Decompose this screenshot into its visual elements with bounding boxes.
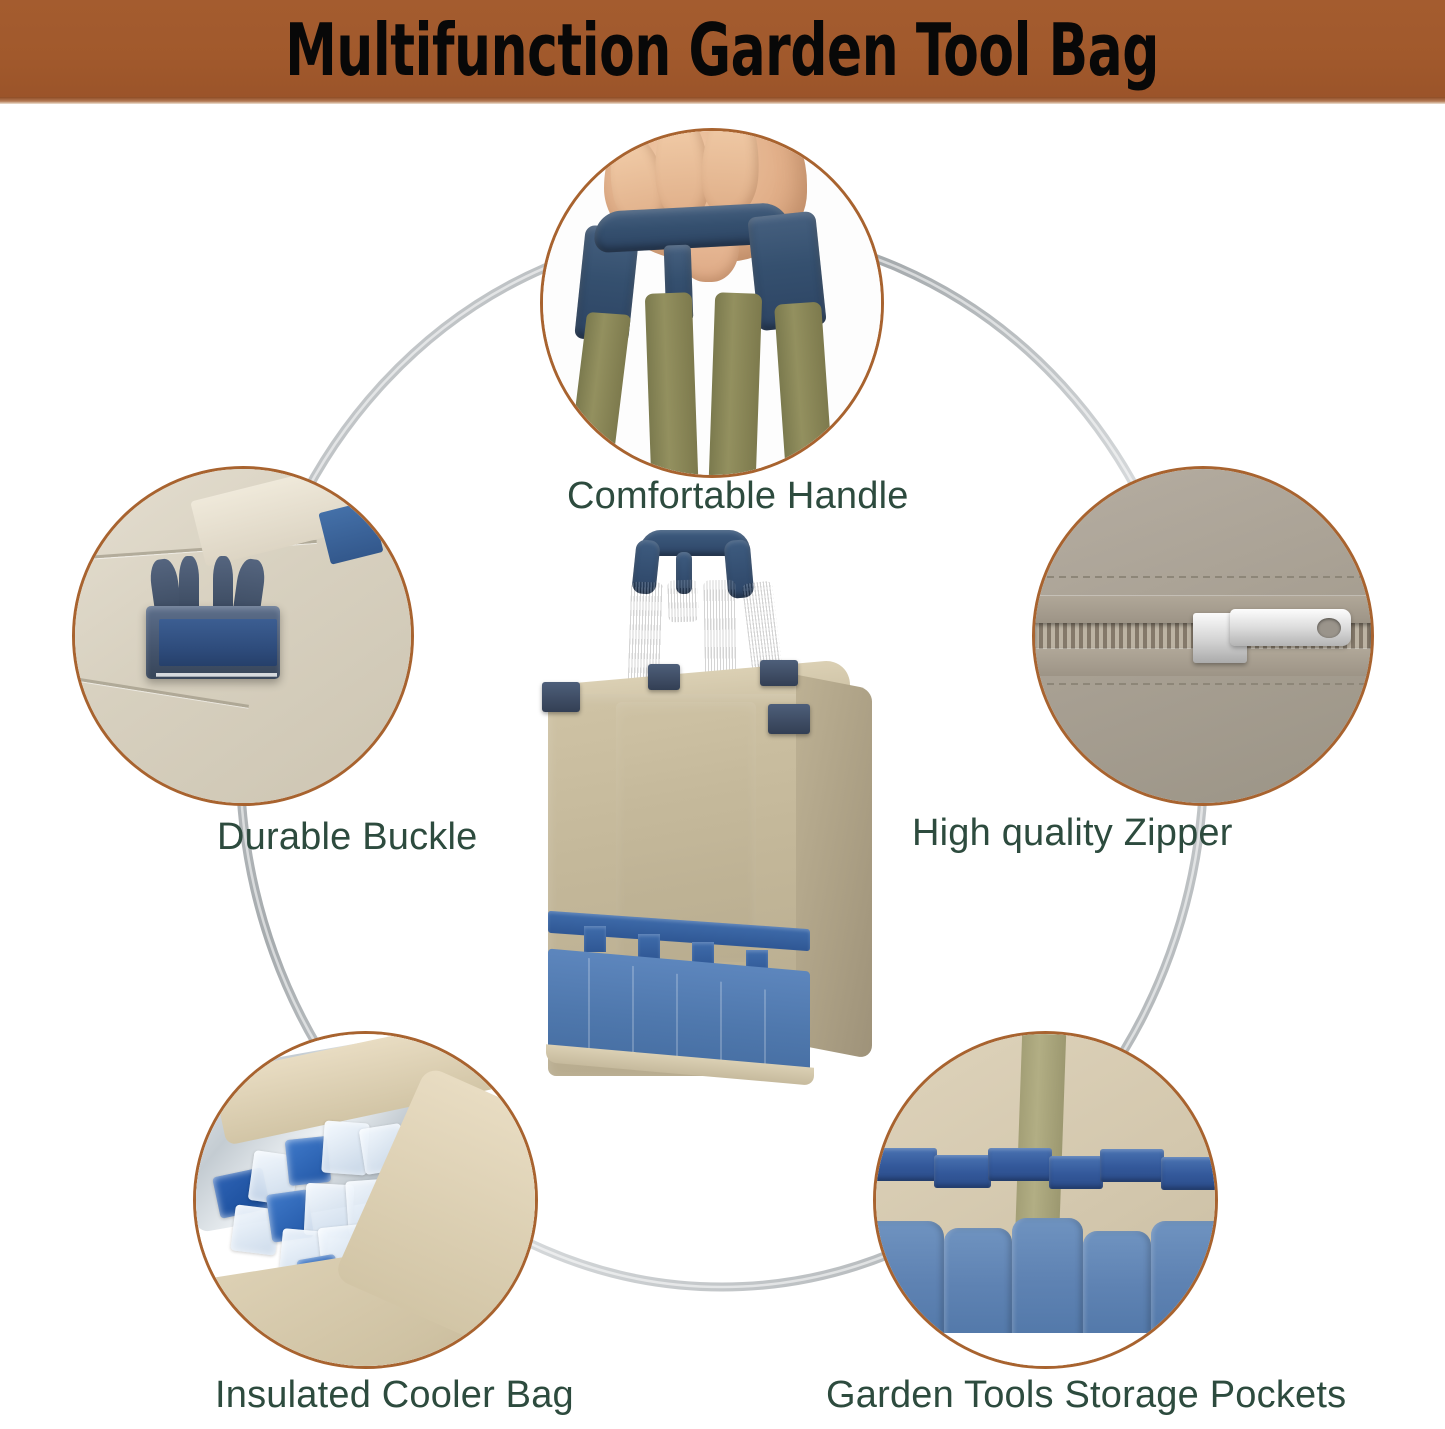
feature-bubble-zipper[interactable] xyxy=(1032,466,1374,806)
buckle-top-right xyxy=(760,660,798,686)
webbing-strap-2 xyxy=(645,292,699,478)
tool-pocket xyxy=(1012,1218,1083,1339)
caption-buckle: Durable Buckle xyxy=(217,816,478,859)
elastic-loop-band xyxy=(876,1144,1215,1197)
tool-pocket xyxy=(1083,1231,1151,1339)
elastic-loop xyxy=(1100,1149,1164,1182)
buckle-blue-webbing xyxy=(159,619,277,666)
tool-pocket xyxy=(873,1221,944,1340)
buckle-prong-inner-left xyxy=(179,556,199,613)
caption-pockets: Garden Tools Storage Pockets xyxy=(826,1374,1346,1417)
elastic-loop xyxy=(934,1155,992,1188)
feature-bubble-pockets[interactable] xyxy=(873,1031,1218,1369)
caption-handle: Comfortable Handle xyxy=(567,475,909,518)
elastic-loop xyxy=(1049,1156,1103,1189)
buckle-webbing-edge xyxy=(156,673,277,676)
caption-zipper: High quality Zipper xyxy=(912,812,1233,855)
buckle-left xyxy=(542,682,580,712)
center-product-image[interactable] xyxy=(520,522,890,1092)
tool-pocket xyxy=(1151,1221,1218,1340)
feature-bubble-buckle[interactable] xyxy=(72,466,414,806)
pocket-divider xyxy=(588,958,590,1062)
buckle-prong-inner-right xyxy=(213,556,233,613)
elastic-loop xyxy=(584,926,606,952)
tool-pocket-row xyxy=(876,1213,1215,1339)
stitch-line-top xyxy=(1035,576,1371,578)
elastic-loop xyxy=(873,1148,937,1181)
buckle-side-right xyxy=(768,704,810,734)
page-title: Multifunction Garden Tool Bag xyxy=(286,14,1160,86)
stitch-line-bottom xyxy=(1035,683,1371,685)
caption-cooler: Insulated Cooler Bag xyxy=(215,1374,574,1417)
zipper-pull-hole xyxy=(1317,618,1341,638)
webbing-strap-back-left xyxy=(667,579,698,622)
feature-bubble-handle[interactable] xyxy=(540,128,884,478)
bottom-edge xyxy=(876,1333,1215,1369)
webbing-strap-3 xyxy=(709,292,763,478)
buckle-top-middle xyxy=(648,664,680,690)
elastic-loop xyxy=(988,1148,1052,1181)
feature-bubble-cooler[interactable] xyxy=(193,1031,538,1369)
header-banner: Multifunction Garden Tool Bag xyxy=(0,0,1445,104)
tool-pocket xyxy=(944,1228,1012,1339)
elastic-loop xyxy=(1161,1157,1218,1190)
